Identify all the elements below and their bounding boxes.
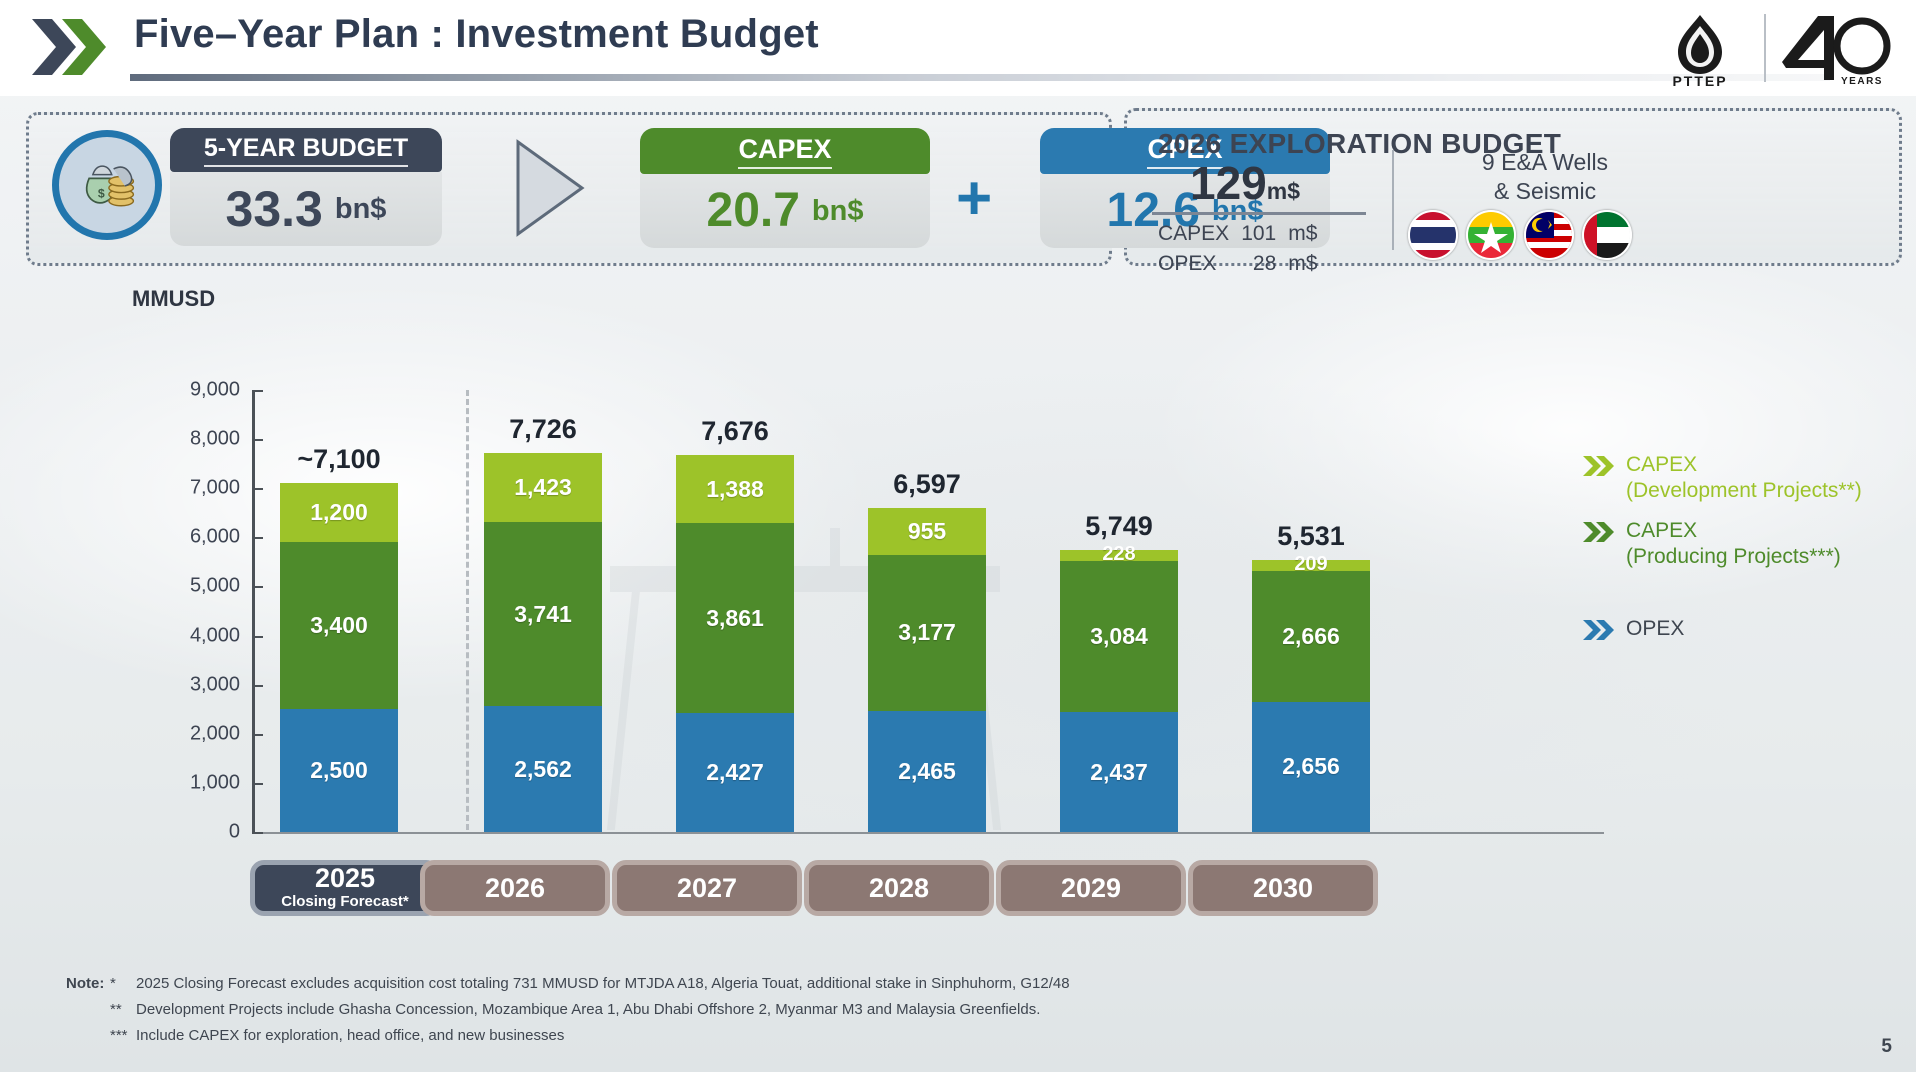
capex-unit: bn$ (812, 195, 864, 228)
footnote-row: ** Development Projects include Ghasha C… (66, 1002, 1466, 1017)
exploration-rule (1152, 212, 1366, 215)
left-edge-strip (0, 0, 10, 96)
year-label-2026[interactable]: 2026 (420, 860, 610, 916)
exploration-wells-text: 9 E&A Wells & Seismic (1410, 148, 1680, 206)
y-axis-tick-label: 1,000 (154, 771, 240, 794)
year-label-text: 2029 (1061, 875, 1121, 902)
year-label-2027[interactable]: 2027 (612, 860, 802, 916)
y-axis-tick-mark (252, 783, 263, 785)
y-axis-tick-mark (252, 439, 263, 441)
bar-total-label: 5,749 (1085, 511, 1153, 542)
pttep-logo: PTTEP (1652, 12, 1748, 88)
exploration-row-label: CAPEX (1158, 220, 1239, 248)
notes-label: Note: (66, 976, 110, 991)
bar-segment-dev: 955 (868, 508, 986, 555)
svg-text:PTTEP: PTTEP (1672, 73, 1727, 88)
footnote-marker: * (110, 976, 136, 991)
capex-value: 20.7 (707, 187, 800, 235)
exploration-row-value: 101 (1241, 220, 1286, 248)
x-axis-baseline (252, 832, 1604, 834)
bar-segment-prod: 3,741 (484, 522, 602, 706)
bar-segment-dev: 1,388 (676, 455, 794, 523)
bar-segment-value: 1,388 (706, 476, 764, 503)
bar-segment-prod: 2,666 (1252, 571, 1370, 702)
bar-column: 2283,0842,4375,749 (1060, 390, 1178, 832)
bar-segment-dev: 1,200 (280, 483, 398, 542)
y-axis-tick-mark (252, 586, 263, 588)
exploration-divider (1392, 150, 1394, 250)
bar-column: 1,3883,8612,4277,676 (676, 390, 794, 832)
year-label-2030[interactable]: 2030 (1188, 860, 1378, 916)
y-axis-tick-label: 2,000 (154, 722, 240, 745)
year-label-2029[interactable]: 2029 (996, 860, 1186, 916)
footnote-marker: *** (110, 1028, 136, 1043)
bar-segment-value: 2,437 (1090, 759, 1148, 786)
capex-summary-card: CAPEX 20.7 bn$ (640, 128, 930, 248)
year-label-text: 2026 (485, 875, 545, 902)
footnote-text: 2025 Closing Forecast excludes acquisiti… (136, 976, 1070, 991)
y-axis-tick-mark (252, 390, 263, 392)
bar-segment-prod: 3,084 (1060, 561, 1178, 712)
bar-total-label: 6,597 (893, 469, 961, 500)
bar-segment-opex: 2,437 (1060, 712, 1178, 832)
y-axis-tick-label: 8,000 (154, 428, 240, 451)
y-axis-tick-label: 4,000 (154, 624, 240, 647)
y-axis-tick-label: 6,000 (154, 526, 240, 549)
bar-segment-value: 3,741 (514, 601, 572, 628)
bar-column: 1,2003,4002,500~7,100 (280, 390, 398, 832)
double-chevron-icon (1582, 619, 1616, 641)
capex-label: CAPEX (640, 128, 930, 174)
year-label-2025[interactable]: 2025Closing Forecast* (250, 860, 440, 916)
thailand-flag (1408, 210, 1458, 260)
bar-segment-opex: 2,562 (484, 706, 602, 832)
footnote-text: Include CAPEX for exploration, head offi… (136, 1028, 564, 1043)
footnote-marker: ** (110, 1002, 136, 1017)
bar-segment-value: 2,656 (1282, 753, 1340, 780)
double-chevron-icon (30, 16, 122, 78)
wells-line-1: 9 E&A Wells (1410, 148, 1680, 177)
y-axis-tick-mark (252, 734, 263, 736)
exploration-row-label: OPEX (1158, 250, 1239, 278)
bar-segment-value: 2,562 (514, 756, 572, 783)
double-chevron-icon (1582, 521, 1616, 543)
myanmar-flag (1466, 210, 1516, 260)
bar-segment-opex: 2,465 (868, 711, 986, 832)
legend-item-2: CAPEX(Producing Projects***) (1582, 518, 1841, 569)
bar-segment-dev: 209 (1252, 560, 1370, 570)
page-number: 5 (1881, 1036, 1892, 1058)
year-label-text: 2028 (869, 875, 929, 902)
exploration-row: OPEX 28 m$ (1158, 250, 1327, 278)
bar-total-label: 5,531 (1277, 521, 1345, 552)
exploration-breakdown: CAPEX 101 m$ OPEX 28 m$ (1156, 218, 1329, 281)
footnote-row: Note: * 2025 Closing Forecast excludes a… (66, 976, 1466, 991)
bar-segment-value: 1,423 (514, 474, 572, 501)
bar-segment-value: 3,084 (1090, 623, 1148, 650)
bar-segment-prod: 3,177 (868, 555, 986, 711)
y-axis-tick-mark (252, 636, 263, 638)
y-axis-tick-label: 3,000 (154, 673, 240, 696)
bar-total-label: 7,726 (509, 414, 577, 445)
y-axis-tick-label: 9,000 (154, 379, 240, 402)
bar-segment-opex: 2,427 (676, 713, 794, 832)
capex-value-row: 20.7 bn$ (640, 174, 930, 248)
bar-segment-value: 2,427 (706, 759, 764, 786)
bar-segment-prod: 3,861 (676, 523, 794, 713)
y-axis-tick-mark (252, 537, 263, 539)
y-axis-tick-label: 0 (154, 821, 240, 844)
bar-total-label: 7,676 (701, 416, 769, 447)
year-label-text: 2030 (1253, 875, 1313, 902)
exploration-row-unit: m$ (1288, 250, 1327, 278)
double-chevron-icon (1582, 455, 1616, 477)
legend-label-primary: CAPEX (1626, 452, 1862, 478)
five-year-budget-label: 5-YEAR BUDGET (170, 128, 442, 172)
bar-segment-value: 2,500 (310, 757, 368, 784)
bar-segment-prod: 3,400 (280, 542, 398, 709)
year-label-2028[interactable]: 2028 (804, 860, 994, 916)
slide-header: Five–Year Plan : Investment Budget PTTEP… (0, 0, 1916, 96)
bar-segment-value: 3,861 (706, 605, 764, 632)
year-sublabel-text: Closing Forecast* (281, 893, 409, 911)
bar-segment-opex: 2,656 (1252, 702, 1370, 832)
y-axis-line (252, 390, 255, 834)
bar-total-label: ~7,100 (297, 444, 380, 475)
legend-label-primary: CAPEX (1626, 518, 1841, 544)
title-underline (130, 74, 1830, 81)
legend-item-3: OPEX (1582, 616, 1684, 642)
five-year-budget-value-row: 33.3 bn$ (170, 172, 442, 246)
bar-column: 2092,6662,6565,531 (1252, 390, 1370, 832)
legend-label-secondary: (Producing Projects***) (1626, 544, 1841, 570)
y-axis-tick-label: 5,000 (154, 575, 240, 598)
year-label-text: 2027 (677, 875, 737, 902)
wells-line-2: & Seismic (1410, 177, 1680, 206)
bar-column: 9553,1772,4656,597 (868, 390, 986, 832)
y-axis-title: MMUSD (132, 286, 215, 312)
bar-segment-opex: 2,500 (280, 709, 398, 832)
bar-segment-dev: 1,423 (484, 453, 602, 523)
year-label-text: 2025 (315, 865, 375, 892)
bar-column: 1,4233,7412,5627,726 (484, 390, 602, 832)
money-bag-coins-icon: $ (52, 130, 162, 240)
y-axis-tick-label: 7,000 (154, 477, 240, 500)
country-flags (1408, 210, 1632, 260)
y-axis-tick-mark (252, 832, 263, 834)
bar-segment-value: 2,666 (1282, 623, 1340, 650)
40-years-logo: YEARS (1774, 10, 1892, 90)
forecast-divider (466, 390, 469, 830)
logo-divider (1764, 14, 1766, 82)
uae-flag (1582, 210, 1632, 260)
exploration-row-value: 28 (1241, 250, 1286, 278)
svg-text:YEARS: YEARS (1841, 76, 1883, 87)
y-axis-tick-mark (252, 685, 263, 687)
page-title: Five–Year Plan : Investment Budget (134, 12, 819, 57)
five-year-budget-card: 5-YEAR BUDGET 33.3 bn$ (170, 128, 442, 246)
footnotes: Note: * 2025 Closing Forecast excludes a… (66, 976, 1466, 1054)
bar-segment-dev: 228 (1060, 550, 1178, 561)
bar-segment-value: 2,465 (898, 758, 956, 785)
legend-item-1: CAPEX(Development Projects**) (1582, 452, 1862, 503)
footnote-row: *** Include CAPEX for exploration, head … (66, 1028, 1466, 1043)
bar-segment-value: 3,400 (310, 612, 368, 639)
svg-text:$: $ (98, 186, 105, 200)
arrow-right-icon (512, 138, 590, 238)
footnote-text: Development Projects include Ghasha Conc… (136, 1002, 1040, 1017)
malaysia-flag (1524, 210, 1574, 260)
exploration-row-unit: m$ (1288, 220, 1327, 248)
plus-operator: + (956, 168, 992, 230)
bar-segment-value: 955 (908, 518, 946, 545)
five-year-budget-value: 33.3 (226, 184, 323, 234)
legend-label-primary: OPEX (1626, 616, 1684, 642)
bar-segment-value: 3,177 (898, 619, 956, 646)
exploration-row: CAPEX 101 m$ (1158, 220, 1327, 248)
bar-segment-value: 1,200 (310, 499, 368, 526)
five-year-budget-unit: bn$ (335, 193, 387, 226)
y-axis-tick-mark (252, 488, 263, 490)
legend-label-secondary: (Development Projects**) (1626, 478, 1862, 504)
exploration-total: 129m$ (1190, 160, 1300, 206)
